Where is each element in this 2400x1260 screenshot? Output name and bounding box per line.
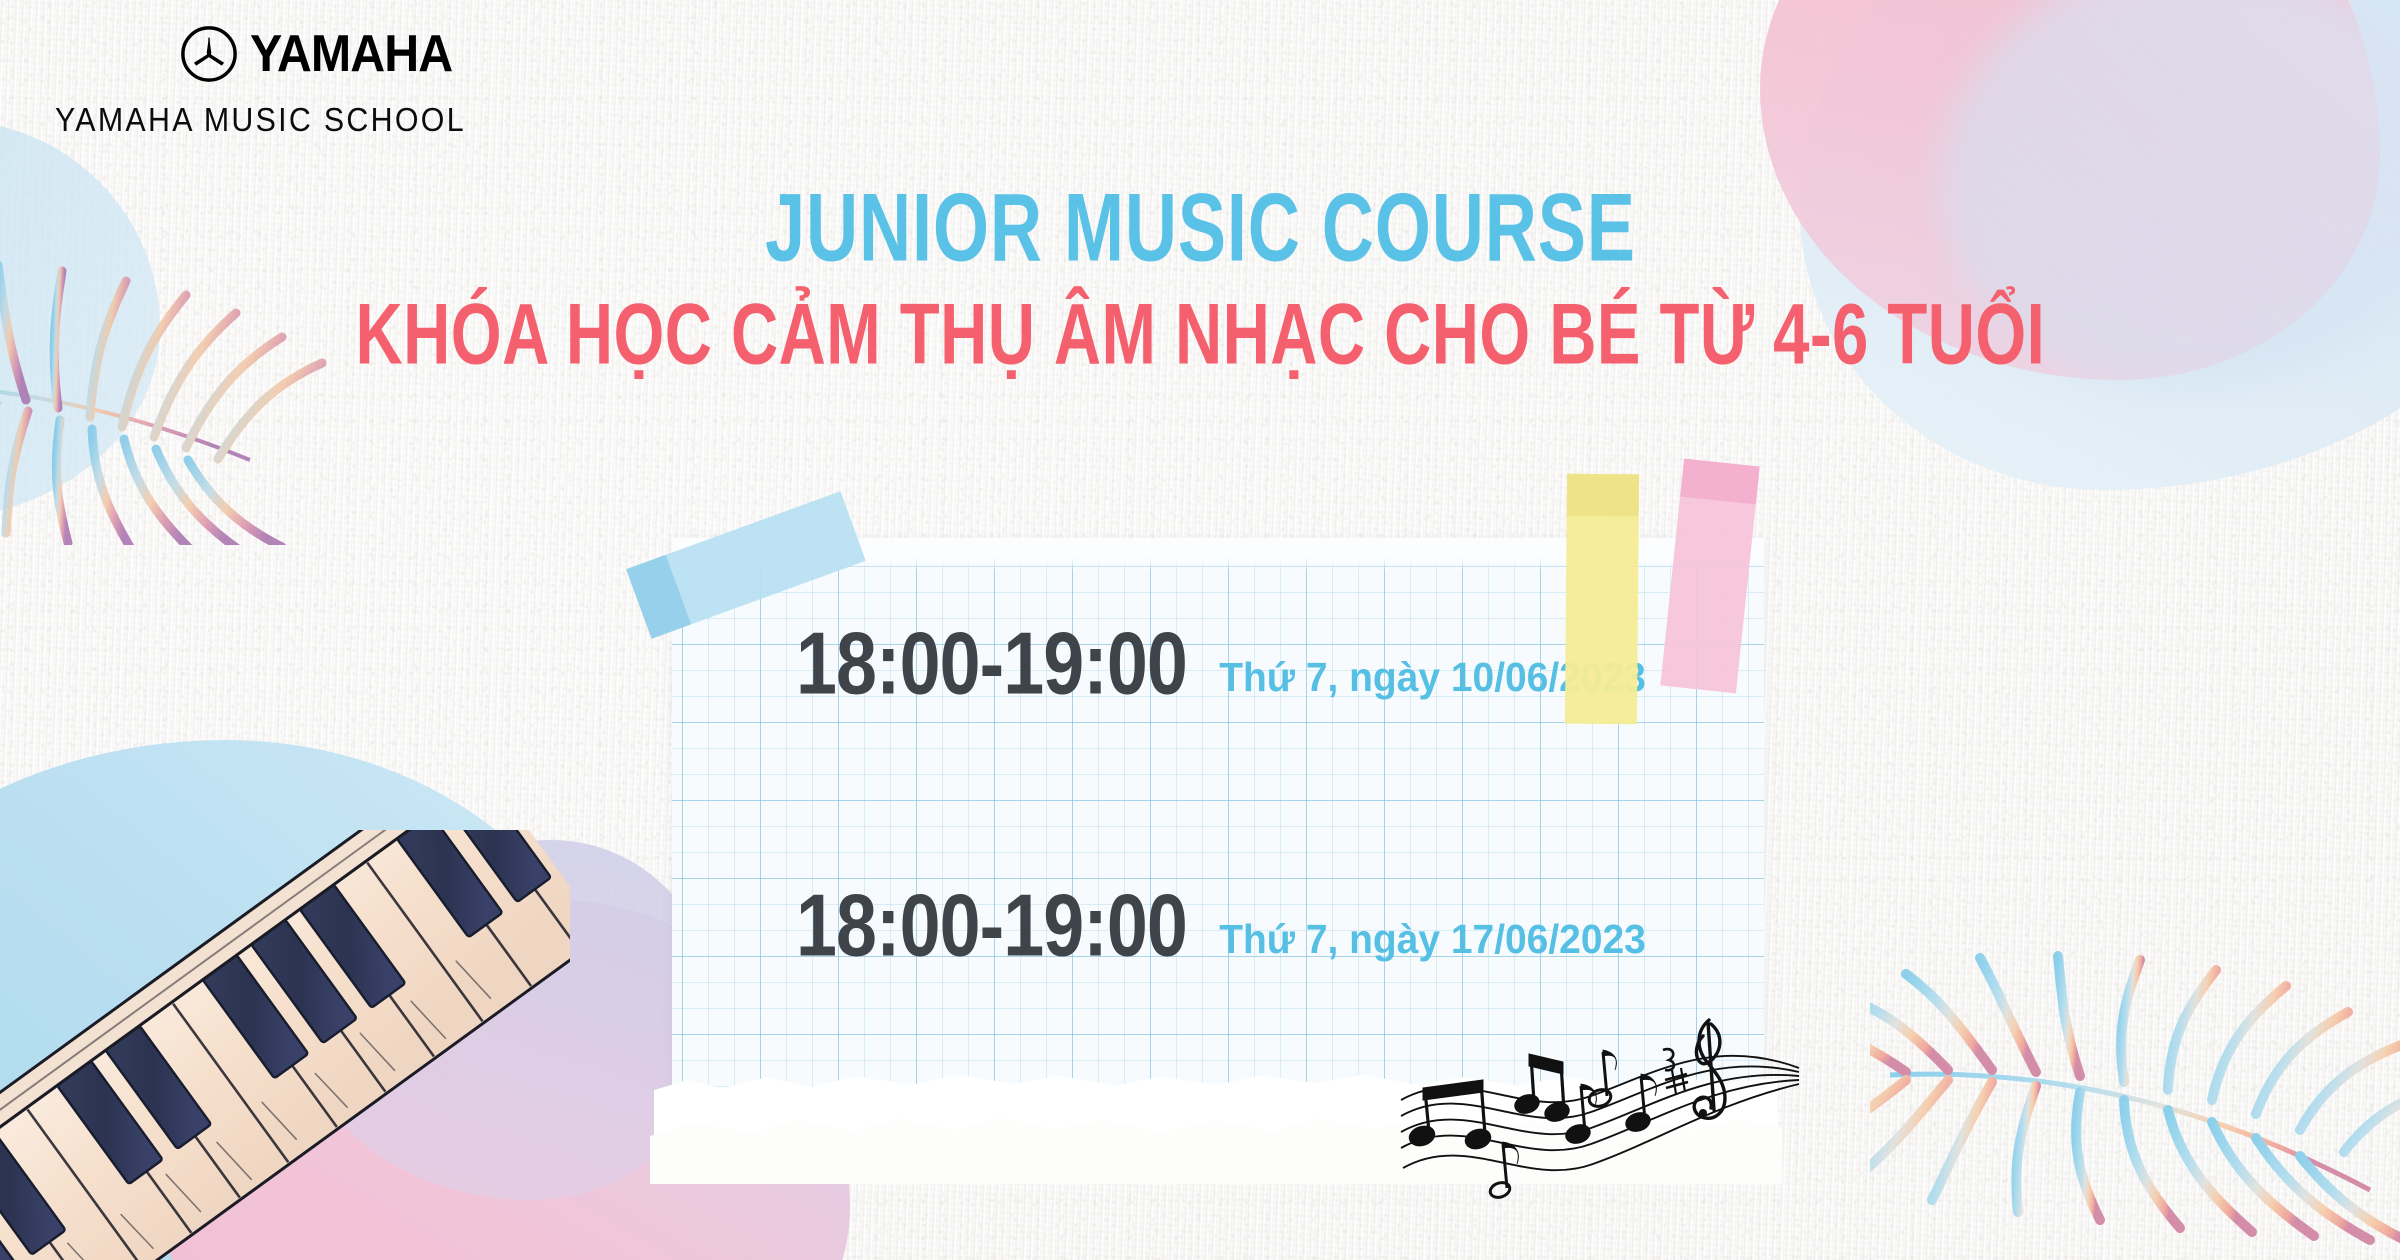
schedule-time: 18:00-19:00 [796, 882, 1187, 970]
washi-tape-yellow [1565, 474, 1639, 725]
piano-keyboard-icon [0, 830, 570, 1260]
promo-banner: YAMAHA YAMAHA MUSIC SCHOOL JUNIOR MUSIC … [0, 0, 2400, 1260]
schedule-entry-2: 18:00-19:00 Thứ 7, ngày 17/06/2023 [672, 886, 1764, 966]
tape-end-cap [1680, 459, 1760, 505]
palm-frond-bottom-right-icon [1870, 890, 2400, 1260]
yamaha-tuning-fork-icon [180, 25, 238, 83]
course-title-english: JUNIOR MUSIC COURSE [765, 180, 1636, 276]
tape-end-cap [1567, 474, 1639, 517]
logo-subtitle: YAMAHA MUSIC SCHOOL [55, 101, 466, 139]
brand-logo: YAMAHA YAMAHA MUSIC SCHOOL [55, 25, 502, 139]
schedule-time: 18:00-19:00 [796, 620, 1187, 708]
headline-block: JUNIOR MUSIC COURSE KHÓA HỌC CẢM THỤ ÂM … [0, 185, 2400, 373]
schedule-date: Thứ 7, ngày 17/06/2023 [1219, 919, 1646, 960]
course-title-vietnamese: KHÓA HỌC CẢM THỤ ÂM NHẠC CHO BÉ TỪ 4-6 T… [355, 292, 2045, 379]
logo-wordmark: YAMAHA [250, 28, 452, 80]
music-staff-notes-icon [1395, 992, 1815, 1212]
